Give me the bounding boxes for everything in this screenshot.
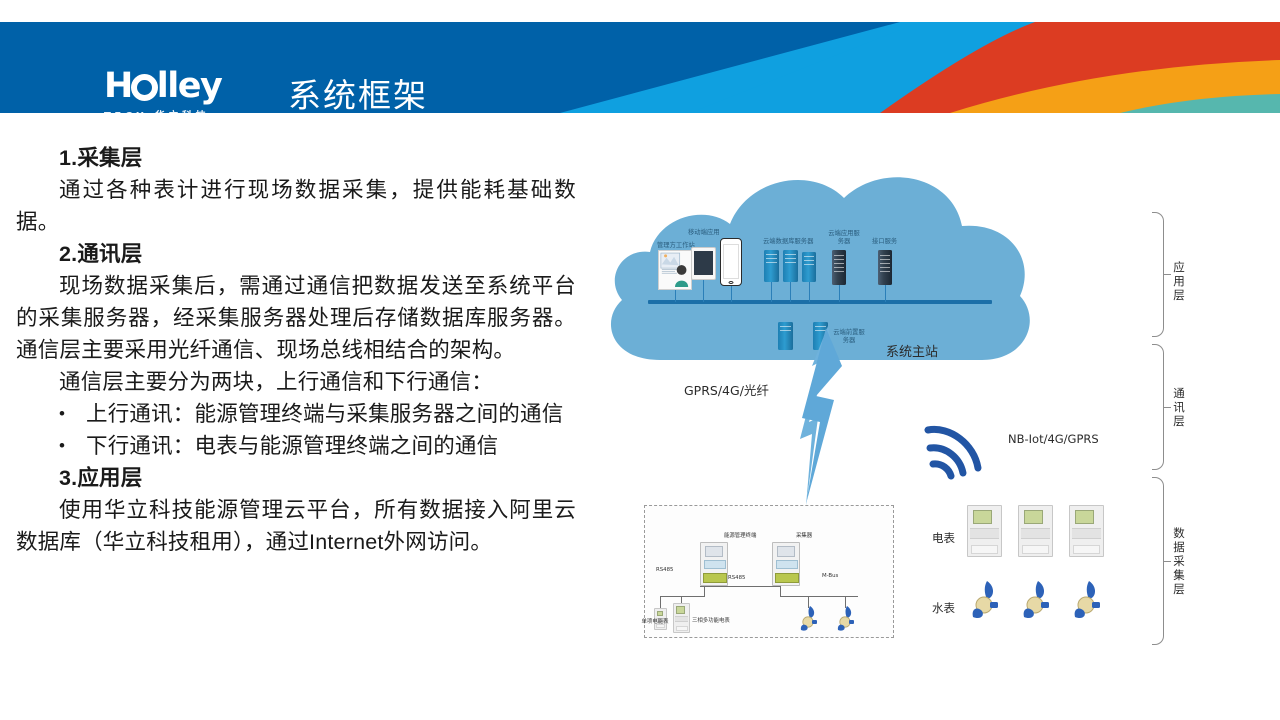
rs485-bus-line xyxy=(700,586,780,587)
label-cloud-application-server: 云端应用服务器 xyxy=(827,230,861,246)
water-meter-icon xyxy=(798,606,820,632)
bullet-text: 下行通讯：电表与能源管理终端之间的通信 xyxy=(86,434,498,458)
section-paragraph: 通信层主要分为两块，上行通信和下行通信： xyxy=(16,366,576,398)
bullet-item: 上行通讯：能源管理终端与采集服务器之间的通信 xyxy=(16,398,576,430)
bullet-marker xyxy=(16,398,86,430)
app-server-icon xyxy=(832,250,846,285)
lightning-bolt-icon xyxy=(782,326,854,506)
label-nbiot: NB-Iot/4G/GPRS xyxy=(1008,432,1099,446)
meter-drop-line xyxy=(660,596,661,608)
label-system-master-station: 系统主站 xyxy=(886,341,938,360)
section-paragraph: 通过各种表计进行现场数据采集，提供能耗基础数据。 xyxy=(16,174,576,238)
bracket-data-collection-layer xyxy=(1152,477,1164,645)
electric-meter-icon xyxy=(1069,505,1104,557)
label-mbus: M-Bus xyxy=(822,573,838,579)
label-single-phase-meter: 单项电能表 xyxy=(640,619,670,626)
collector-icon xyxy=(772,542,800,586)
bracket-tick xyxy=(1164,274,1171,275)
smartphone-icon xyxy=(720,238,742,286)
bullet-text: 上行通讯：能源管理终端与采集服务器之间的通信 xyxy=(86,402,563,426)
label-gprs-fiber: GPRS/4G/光纤 xyxy=(684,380,769,399)
bracket-communication-layer xyxy=(1152,344,1164,470)
section-heading: 2.通讯层 xyxy=(16,238,576,270)
db-server-icon xyxy=(802,252,816,282)
section-paragraph: 现场数据采集后，需通过通信把数据发送至系统平台的采集服务器，经采集服务器处理后存… xyxy=(16,270,576,366)
mbus-line xyxy=(780,596,858,597)
downlink-bus-line xyxy=(660,596,705,597)
layer-label-data-collection: 数据采集层 xyxy=(1172,526,1186,596)
bracket-application-layer xyxy=(1152,212,1164,337)
body-text-column: 1.采集层 通过各种表计进行现场数据采集，提供能耗基础数据。 2.通讯层 现场数… xyxy=(16,142,576,558)
label-mobile-app: 移动端应用 xyxy=(688,227,719,236)
logo-wordmark: Hlley xyxy=(104,69,272,103)
cloud-bus-line xyxy=(648,300,992,304)
smartphone-connector xyxy=(731,286,732,302)
label-water-meter: 水表 xyxy=(932,600,955,616)
layer-label-application: 应用层 xyxy=(1172,260,1186,302)
db-server-connector xyxy=(809,282,810,302)
workstation-icon xyxy=(658,250,692,290)
label-electric-meter: 电表 xyxy=(932,530,955,546)
db-server-icon xyxy=(783,250,798,282)
holley-logo: Hlley TECH 华立科技 xyxy=(104,69,272,113)
water-meter-icon xyxy=(1019,580,1053,620)
bullet-marker xyxy=(16,430,86,462)
slide-root: Hlley TECH 华立科技 系统框架 1.采集层 通过各种表计进行现场数据采… xyxy=(0,0,1280,720)
tablet-icon xyxy=(691,247,716,280)
collector-drop-line xyxy=(780,586,781,597)
bullet-item: 下行通讯：电表与能源管理终端之间的通信 xyxy=(16,430,576,462)
label-management-workstation: 管理方工作站 xyxy=(657,240,695,249)
label-interface-service: 接口服务 xyxy=(872,236,897,245)
system-architecture-diagram: 管理方工作站 移动端应用 云端数据库 xyxy=(600,130,1280,690)
logo-subtitle: TECH 华立科技 xyxy=(104,107,272,113)
section-heading: 3.应用层 xyxy=(16,462,576,494)
label-collector: 采集器 xyxy=(796,531,812,539)
wifi-icon xyxy=(920,418,988,480)
interface-server-icon xyxy=(878,250,892,285)
label-energy-terminal: 能源管理终端 xyxy=(724,531,756,539)
bracket-tick xyxy=(1164,561,1171,562)
label-three-phase-meter: 三相多功能电表 xyxy=(692,618,730,625)
three-phase-meter-icon xyxy=(673,603,690,633)
label-rs485-left: RS485 xyxy=(656,567,673,573)
header-banner: Hlley TECH 华立科技 系统框架 xyxy=(0,22,1280,113)
logo-o-ring xyxy=(131,74,158,101)
electric-meter-icon xyxy=(967,505,1002,557)
interface-server-connector xyxy=(885,285,886,302)
bracket-tick xyxy=(1164,407,1171,408)
section-paragraph: 使用华立科技能源管理云平台，所有数据接入阿里云数据库（华立科技租用），通过Int… xyxy=(16,494,576,558)
section-heading: 1.采集层 xyxy=(16,142,576,174)
db-server-connector xyxy=(790,282,791,302)
db-server-icon xyxy=(764,250,779,282)
water-meter-icon xyxy=(1070,580,1104,620)
tablet-connector xyxy=(703,280,704,302)
layer-label-communication: 通讯层 xyxy=(1172,386,1186,428)
water-meter-icon xyxy=(968,580,1002,620)
db-server-connector xyxy=(771,282,772,302)
workstation-connector xyxy=(675,290,676,302)
electric-meter-icon xyxy=(1018,505,1053,557)
energy-management-terminal-icon xyxy=(700,542,728,586)
label-rs485-mid: RS485 xyxy=(728,575,745,581)
page-title: 系统框架 xyxy=(288,69,428,113)
workstation-glyph xyxy=(659,251,691,289)
app-server-connector xyxy=(839,285,840,302)
water-meter-icon xyxy=(835,606,857,632)
label-cloud-database-server: 云端数据库服务器 xyxy=(763,236,813,245)
terminal-drop-line xyxy=(704,586,705,597)
